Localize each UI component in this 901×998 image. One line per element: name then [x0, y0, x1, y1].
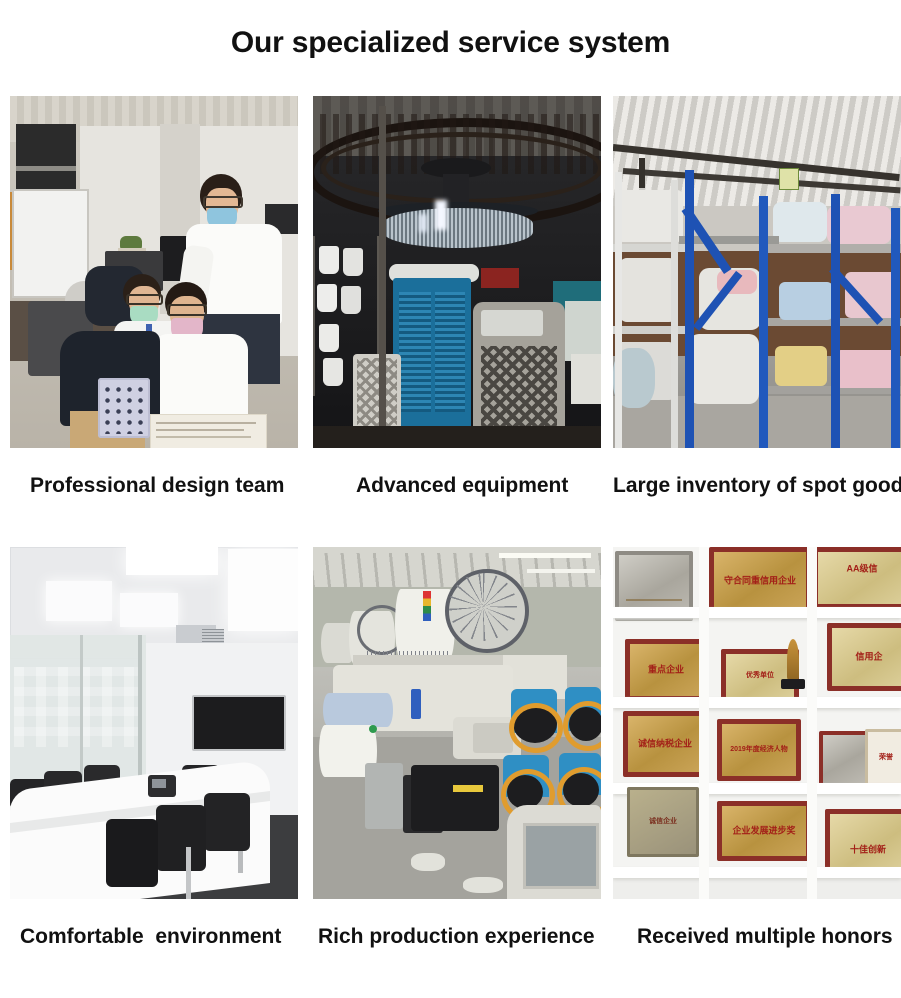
cabinet-vent	[399, 292, 431, 412]
basket-perforations	[102, 384, 146, 434]
plaque-inscription: 优秀单位	[746, 670, 774, 680]
photo-received-multiple-honors[interactable]: 守合同重信用企业 AA级信 重点企业 优秀单位 信用企	[613, 547, 901, 899]
service-card-large-inventory[interactable]: Large inventory of spot good	[613, 96, 901, 499]
service-card-received-multiple-honors[interactable]: 守合同重信用企业 AA级信 重点企业 优秀单位 信用企	[613, 547, 901, 950]
loom-unit-dark	[411, 765, 499, 831]
award-plaque: 2019年度经济人物	[717, 719, 801, 781]
cabinet-vent	[435, 292, 465, 412]
glass-frosted-pattern	[14, 667, 138, 747]
document-line	[156, 422, 256, 424]
floor-scrap	[463, 877, 503, 893]
yarn-cone	[341, 286, 361, 314]
shelf-divider	[807, 547, 817, 899]
page-root: { "page": { "title": "Our specialized se…	[0, 0, 901, 959]
paper-document	[150, 414, 267, 448]
beam-flange-spokes	[449, 573, 517, 641]
award-plaque: 诚信纳税企业	[623, 711, 707, 777]
blue-rack-upright	[759, 196, 768, 448]
indicator-light	[369, 725, 377, 733]
yarn-cone	[323, 358, 343, 386]
yarn-cone	[319, 324, 339, 352]
award-plaque: 守合同重信用企业	[709, 547, 811, 615]
shelf	[613, 697, 901, 708]
background-machine-panel	[565, 301, 601, 361]
service-card-rich-production-experience[interactable]: Rich production experience	[313, 547, 601, 950]
plaque-inscription: 十佳创新	[850, 842, 886, 855]
service-card-comfortable-environment[interactable]: Comfortable environment	[10, 547, 298, 950]
plaque-inscription: 重点企业	[648, 662, 684, 675]
plaque-inscription: AA级信	[847, 561, 878, 574]
award-plaque: AA级信	[813, 547, 901, 609]
plaque-inscription: 企业发展进步奖	[732, 824, 795, 837]
shelf	[613, 607, 901, 618]
plaque-inscription: 荣誉	[879, 752, 893, 762]
service-card-advanced-equipment[interactable]: Advanced equipment	[313, 96, 601, 499]
yarn-cone	[319, 246, 339, 274]
machine-guard-window	[481, 310, 543, 336]
caption-professional-design-team: Professional design team	[10, 473, 298, 499]
plaque-inscription: 信用企	[855, 649, 882, 662]
roof-brace	[639, 158, 645, 188]
cloth-roll-blue	[323, 693, 393, 727]
award-certificate: 荣誉	[865, 729, 901, 787]
caption-received-multiple-honors: Received multiple honors	[613, 924, 901, 950]
award-plaque: 企业发展进步奖	[717, 801, 811, 861]
fabric-bale	[779, 282, 833, 320]
caption-rich-production-experience: Rich production experience	[313, 924, 601, 950]
document-line	[156, 436, 251, 438]
office-chair	[204, 793, 250, 851]
red-component	[481, 268, 519, 288]
machine-light-secondary	[419, 214, 427, 232]
caption-large-inventory: Large inventory of spot good	[613, 473, 901, 499]
award-plaque: 十佳创新	[825, 809, 901, 875]
service-grid-row-1: Professional design team	[10, 96, 901, 547]
award-plaque	[819, 731, 871, 787]
fabric-bale	[835, 350, 897, 388]
photo-comfortable-environment[interactable]	[10, 547, 298, 899]
machine-guard-mesh	[481, 346, 557, 438]
shelf	[613, 867, 901, 878]
caption-comfortable-environment: Comfortable environment	[10, 924, 298, 950]
shelf-divider	[699, 547, 709, 899]
blue-rack-upright	[831, 194, 840, 448]
office-chair	[106, 819, 158, 887]
factory-floor	[313, 426, 601, 448]
trophy-base	[781, 679, 805, 689]
award-plaque: 重点企业	[625, 639, 707, 701]
office-chair	[156, 805, 206, 871]
background-fabric-roll	[571, 354, 601, 404]
fabric-bale	[775, 346, 827, 386]
window-bar	[16, 166, 76, 171]
photo-rich-production-experience[interactable]	[313, 547, 601, 899]
fluorescent-tube	[527, 569, 595, 573]
photo-professional-design-team[interactable]	[10, 96, 298, 448]
plaque-inscription: 诚信企业	[649, 816, 677, 826]
fabric-bale	[773, 202, 827, 242]
loom-motor-ring	[509, 703, 563, 753]
trophy	[787, 639, 799, 681]
service-grid-row-2: Comfortable environment	[10, 547, 901, 998]
control-panel-screen[interactable]	[523, 823, 599, 889]
plaque-inscription: 2019年度经济人物	[730, 744, 788, 754]
warning-label	[453, 785, 483, 792]
person-seated-front-glasses	[167, 304, 207, 316]
photo-large-inventory[interactable]	[613, 96, 901, 448]
yarn-cone	[317, 284, 337, 312]
wall-mounted-tv	[192, 695, 286, 751]
ceiling-light-panel	[120, 593, 178, 627]
floor-scrap	[411, 853, 445, 871]
white-rack-upright	[615, 172, 622, 448]
blue-bottle	[411, 689, 421, 719]
person-standing-glasses	[203, 196, 243, 208]
ceiling-light-panel	[228, 549, 298, 631]
color-marker	[423, 591, 431, 621]
document-line	[156, 429, 244, 431]
fabric-bale	[689, 334, 759, 404]
machine-light	[435, 200, 447, 230]
plaque-inscription: 守合同重信用企业	[724, 573, 796, 586]
ceiling-light-panel	[46, 581, 112, 621]
photo-advanced-equipment[interactable]	[313, 96, 601, 448]
page-title: Our specialized service system	[0, 26, 901, 60]
support-pole	[379, 106, 386, 446]
wall-sign	[779, 168, 799, 190]
fabric-bale	[619, 258, 677, 322]
warehouse-floor	[613, 396, 901, 448]
service-grid: Professional design team	[10, 96, 901, 998]
motor	[473, 723, 513, 753]
conference-phone-screen	[152, 779, 166, 788]
white-rack-upright	[671, 180, 678, 448]
knitting-dial	[383, 208, 533, 248]
plaque-inscription: 诚信纳税企业	[638, 736, 692, 749]
fluorescent-tube	[499, 553, 591, 558]
yarn-cone	[343, 248, 363, 276]
ceiling-light-panel	[126, 547, 218, 575]
waste-bin	[365, 763, 403, 829]
award-plaque: 信用企	[827, 623, 901, 691]
service-card-professional-design-team[interactable]: Professional design team	[10, 96, 298, 499]
award-plaque: 诚信企业	[627, 787, 699, 857]
person-seated-mid-glasses	[126, 294, 163, 305]
blue-rack-upright	[891, 208, 900, 448]
caption-advanced-equipment: Advanced equipment	[313, 473, 601, 499]
table-leg	[186, 847, 191, 899]
